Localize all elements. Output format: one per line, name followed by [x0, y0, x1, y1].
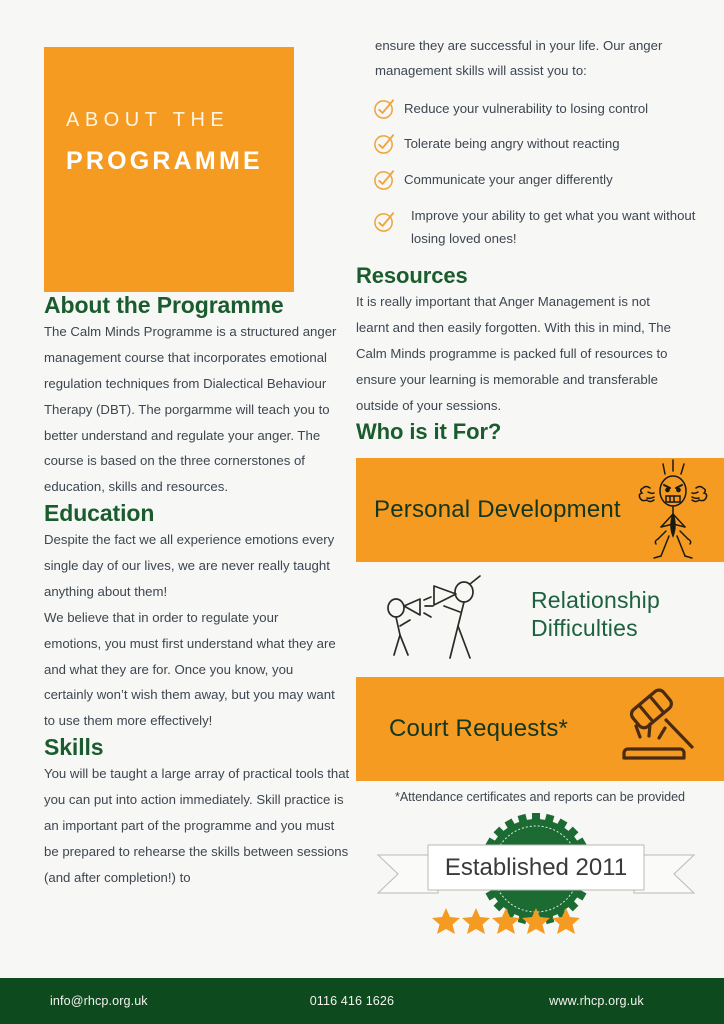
- paragraph-skills: You will be taught a large array of prac…: [44, 761, 352, 890]
- check-circle-icon: [373, 97, 396, 120]
- list-item: Reduce your vulnerability to losing cont…: [356, 98, 724, 121]
- card-personal-development: Personal Development: [356, 458, 724, 562]
- card-title-line-2: Difficulties: [531, 615, 638, 641]
- list-item-label: Reduce your vulnerability to losing cont…: [404, 101, 648, 116]
- page-footer: info@rhcp.org.uk 0116 416 1626 www.rhcp.…: [0, 978, 724, 1024]
- paragraph-education-1: Despite the fact we all experience emoti…: [44, 527, 336, 605]
- paragraph-about: The Calm Minds Programme is a structured…: [44, 319, 339, 500]
- paragraph-intro-continued: ensure they are successful in your life.…: [356, 0, 695, 84]
- card-court-requests: Court Requests*: [356, 677, 724, 781]
- hero-line-2: PROGRAMME: [66, 147, 263, 176]
- check-circle-icon: [373, 168, 396, 191]
- footer-email[interactable]: info@rhcp.org.uk: [50, 994, 148, 1008]
- list-item-label: Communicate your anger differently: [404, 172, 613, 187]
- list-item: Communicate your anger differently: [356, 169, 724, 192]
- footnote-attendance: *Attendance certificates and reports can…: [356, 790, 724, 804]
- arguing-stick-figures-icon: [378, 566, 508, 667]
- hero-line-1: ABOUT THE: [66, 109, 229, 132]
- gavel-icon: [614, 687, 700, 776]
- hero-title-box: ABOUT THE PROGRAMME: [44, 47, 294, 292]
- left-column: ABOUT THE PROGRAMME About the Programme …: [44, 0, 354, 891]
- heading-resources: Resources: [356, 263, 724, 289]
- card-title: Personal Development: [374, 496, 621, 524]
- paragraph-education-2: We believe that in order to regulate you…: [44, 605, 336, 734]
- card-title: Court Requests*: [389, 715, 568, 743]
- benefits-checklist: Reduce your vulnerability to losing cont…: [356, 98, 724, 251]
- list-item: Improve your ability to get what you wan…: [356, 205, 724, 250]
- brochure-page: ABOUT THE PROGRAMME About the Programme …: [0, 0, 724, 1024]
- list-item-label: Tolerate being angry without reacting: [404, 136, 620, 151]
- heading-about-the-programme: About the Programme: [44, 292, 354, 319]
- card-title: Relationship Difficulties: [531, 586, 660, 642]
- five-stars-icon: [432, 907, 582, 939]
- heading-skills: Skills: [44, 734, 354, 761]
- list-item: Tolerate being angry without reacting: [356, 133, 724, 156]
- footer-website[interactable]: www.rhcp.org.uk: [549, 994, 644, 1008]
- list-item-label: Improve your ability to get what you wan…: [411, 208, 695, 246]
- check-circle-icon: [373, 210, 396, 233]
- angry-stick-figure-icon: [628, 458, 718, 562]
- card-relationship-difficulties: Relationship Difficulties: [356, 564, 724, 664]
- check-circle-icon: [373, 132, 396, 155]
- established-badge: Established 2011: [356, 807, 724, 942]
- right-column: ensure they are successful in your life.…: [356, 0, 724, 942]
- footer-phone[interactable]: 0116 416 1626: [310, 994, 394, 1008]
- badge-label: Established 2011: [445, 854, 627, 881]
- heading-who-is-it-for: Who is it For?: [356, 419, 724, 445]
- card-title-line-1: Relationship: [531, 587, 660, 613]
- heading-education: Education: [44, 500, 354, 527]
- paragraph-resources: It is really important that Anger Manage…: [356, 289, 681, 418]
